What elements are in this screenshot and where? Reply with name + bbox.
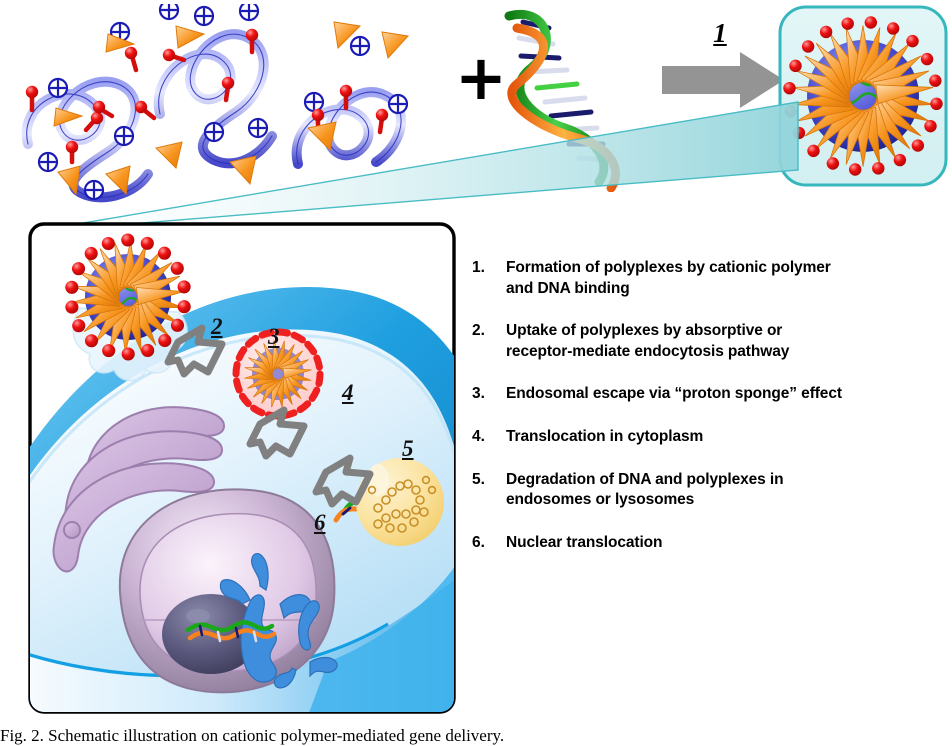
legend-item: 2. Uptake of polyplexes by absorptive or… xyxy=(472,321,950,362)
legend-step-list: 1. Formation of polyplexes by cationic p… xyxy=(472,258,950,618)
cell-step-label-6: 6 xyxy=(314,510,326,536)
legend-item-number: 2. xyxy=(472,321,506,362)
figure-caption: Fig. 2. Schematic illustration on cation… xyxy=(0,726,952,746)
vesicle xyxy=(64,522,80,538)
cell-step-label-3: 3 xyxy=(268,324,280,350)
cell-step-label-2: 2 xyxy=(211,314,223,340)
legend-item-text: Degradation of DNA and polyplexes in end… xyxy=(506,470,783,511)
connector-wedge-shape xyxy=(30,102,798,232)
legend-item-number: 1. xyxy=(472,258,506,299)
legend-item: 6. Nuclear translocation xyxy=(472,533,950,554)
legend-item-number: 4. xyxy=(472,427,506,448)
legend-item-text: Endosomal escape via “proton sponge” eff… xyxy=(506,384,842,405)
legend-item-text: Uptake of polyplexes by absorptive or re… xyxy=(506,321,789,362)
legend-item-text: Nuclear translocation xyxy=(506,533,662,554)
legend-item-text: Formation of polyplexes by cationic poly… xyxy=(506,258,831,299)
cell-diagram-panel: 2 3 4 5 6 xyxy=(28,222,456,714)
legend-item: 5. Degradation of DNA and polyplexes in … xyxy=(472,470,950,511)
step-1-arrow-label: 1 xyxy=(700,18,740,54)
nucleolus-highlight xyxy=(186,609,210,623)
legend-item: 1. Formation of polyplexes by cationic p… xyxy=(472,258,950,299)
legend-item-number: 3. xyxy=(472,384,506,405)
figure-canvas: + xyxy=(0,0,952,746)
cell-step-label-4: 4 xyxy=(342,380,354,406)
legend-item: 3. Endosomal escape via “proton sponge” … xyxy=(472,384,950,405)
cell-step-label-5: 5 xyxy=(402,436,414,462)
legend-item-number: 6. xyxy=(472,533,506,554)
legend-item-text: Translocation in cytoplasm xyxy=(506,427,703,448)
legend-item-number: 5. xyxy=(472,470,506,511)
cell-svg xyxy=(28,222,456,714)
legend-item: 4. Translocation in cytoplasm xyxy=(472,427,950,448)
